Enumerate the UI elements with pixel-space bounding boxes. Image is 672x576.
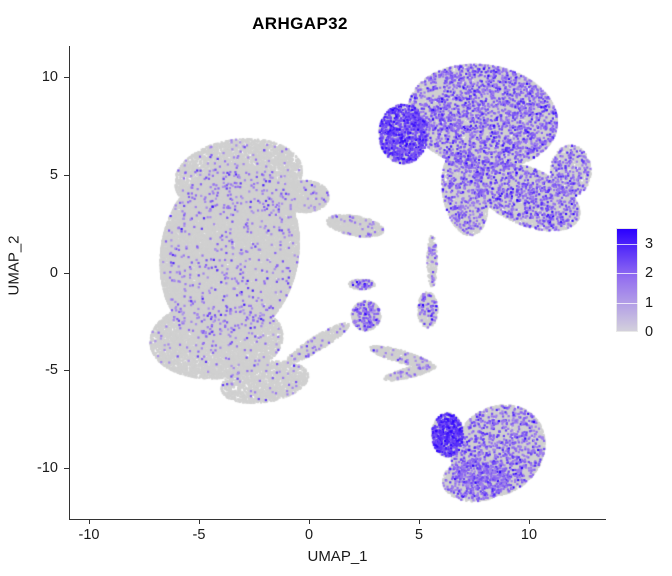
y-axis-line — [69, 46, 70, 520]
x-tick-label: 5 — [415, 527, 423, 543]
colorbar-tick-mark — [616, 332, 638, 333]
y-tick-mark — [64, 175, 69, 176]
y-tick-label: -5 — [45, 362, 58, 378]
colorbar-tick-label: 2 — [645, 265, 653, 281]
colorbar-tick-label: 0 — [645, 324, 653, 340]
x-tick-label: 10 — [521, 527, 537, 543]
umap-feature-plot: ARHGAP32 -10-50510 -10-50510 UMAP_1 UMAP… — [0, 0, 672, 576]
x-tick-label: 0 — [305, 527, 313, 543]
colorbar-tick-mark — [616, 244, 638, 245]
colorbar-tick-mark — [616, 303, 638, 304]
colorbar-tick-label: 3 — [645, 236, 653, 252]
y-tick-label: -10 — [37, 460, 58, 476]
x-tick-mark — [309, 519, 310, 524]
y-tick-label: 5 — [50, 167, 58, 183]
y-tick-mark — [64, 468, 69, 469]
x-axis-title: UMAP_1 — [69, 548, 606, 565]
x-tick-label: -10 — [79, 527, 100, 543]
y-tick-mark — [64, 370, 69, 371]
y-tick-label: 0 — [50, 265, 58, 281]
y-tick-mark — [64, 273, 69, 274]
y-axis-title: UMAP_2 — [6, 166, 23, 366]
x-axis-line — [69, 519, 606, 520]
x-tick-mark — [89, 519, 90, 524]
x-tick-mark — [529, 519, 530, 524]
y-tick-mark — [64, 77, 69, 78]
y-tick-label: 10 — [42, 69, 58, 85]
colorbar-tick-label: 1 — [645, 295, 653, 311]
scatter-plot-canvas — [0, 0, 672, 576]
x-tick-mark — [419, 519, 420, 524]
x-tick-mark — [199, 519, 200, 524]
x-tick-label: -5 — [193, 527, 206, 543]
colorbar-tick-mark — [616, 273, 638, 274]
